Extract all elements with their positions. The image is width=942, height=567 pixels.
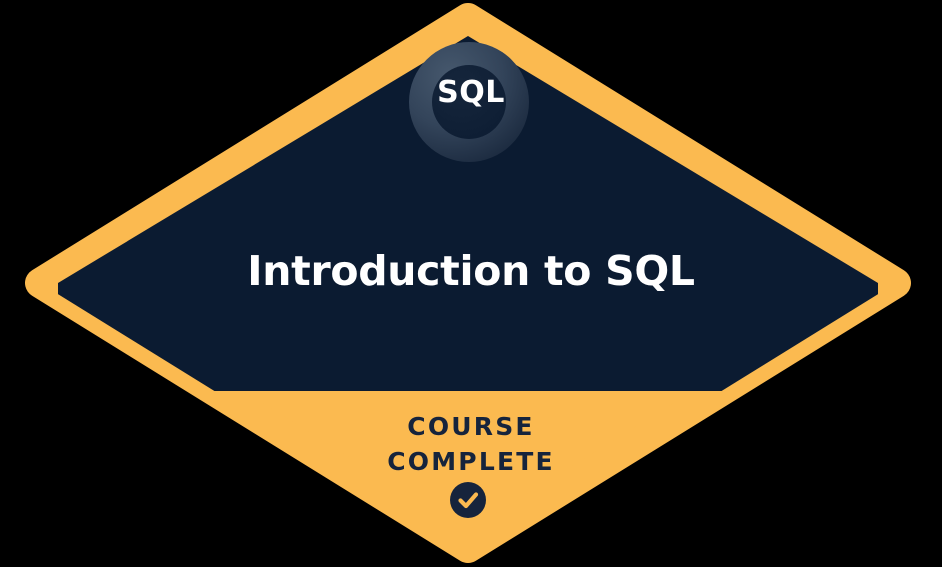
sql-ring-icon — [409, 42, 529, 162]
badge-diamond-graphic — [0, 0, 942, 567]
check-circle-icon — [450, 482, 486, 518]
course-completion-badge: SQL Introduction to SQL COURSE COMPLETE — [0, 0, 942, 567]
